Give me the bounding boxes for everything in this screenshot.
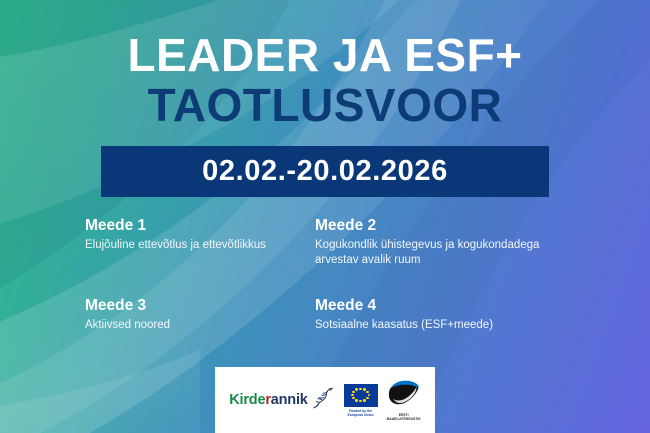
measure-title: Meede 4 [315,296,585,315]
kirderannik-label-part1: Kirde [229,392,265,408]
measure-item-4: Meede 4 Sotsiaalne kaasatus (ESF+meede) [315,296,585,333]
date-range-banner: 02.02.-20.02.2026 [101,146,549,197]
measure-description: Elujõuline ettevõtlus ja ettevõtlikkus [85,238,315,253]
measure-item-2: Meede 2 Kogukondlik ühistegevus ja koguk… [315,216,585,268]
estonia-caption-line-2: MAAELUVÕRGUSTIK [387,417,421,421]
measure-item-3: Meede 3 Aktiivsed noored [85,296,315,333]
measure-item-1: Meede 1 Elujõuline ettevõtlus ja ettevõt… [85,216,315,268]
measures-grid: Meede 1 Elujõuline ettevõtlus ja ettevõt… [85,216,585,333]
eu-flag-icon [344,384,378,407]
eu-caption-line-1: Funded by the [348,409,374,413]
eu-caption-line-2: European Union [348,413,374,417]
estonia-flag-swoosh-icon [388,380,420,412]
logo-bar: Kirderannik [215,367,435,433]
heron-bird-icon [309,385,335,416]
date-range-text: 02.02.-20.02.2026 [202,155,448,188]
title-line-2: TAOTLUSVOOR [0,80,650,130]
measure-title: Meede 3 [85,296,315,315]
measure-description: Sotsiaalne kaasatus (ESF+meede) [315,318,565,333]
kirderannik-logo: Kirderannik [229,385,334,416]
estonia-logo: EESTI MAAELUVÕRGUSTIK [387,380,421,421]
poster-headline: LEADER JA ESF+ TAOTLUSVOOR [0,30,650,130]
eu-funded-logo: Funded by the European Union [344,384,378,417]
kirderannik-label-part3: annik [271,392,308,408]
title-line-1: LEADER JA ESF+ [0,30,650,80]
measure-title: Meede 2 [315,216,585,235]
measure-description: Aktiivsed noored [85,318,315,333]
poster-canvas: LEADER JA ESF+ TAOTLUSVOOR 02.02.-20.02.… [0,0,650,433]
measure-title: Meede 1 [85,216,315,235]
measure-description: Kogukondlik ühistegevus ja kogukondadega… [315,238,565,268]
